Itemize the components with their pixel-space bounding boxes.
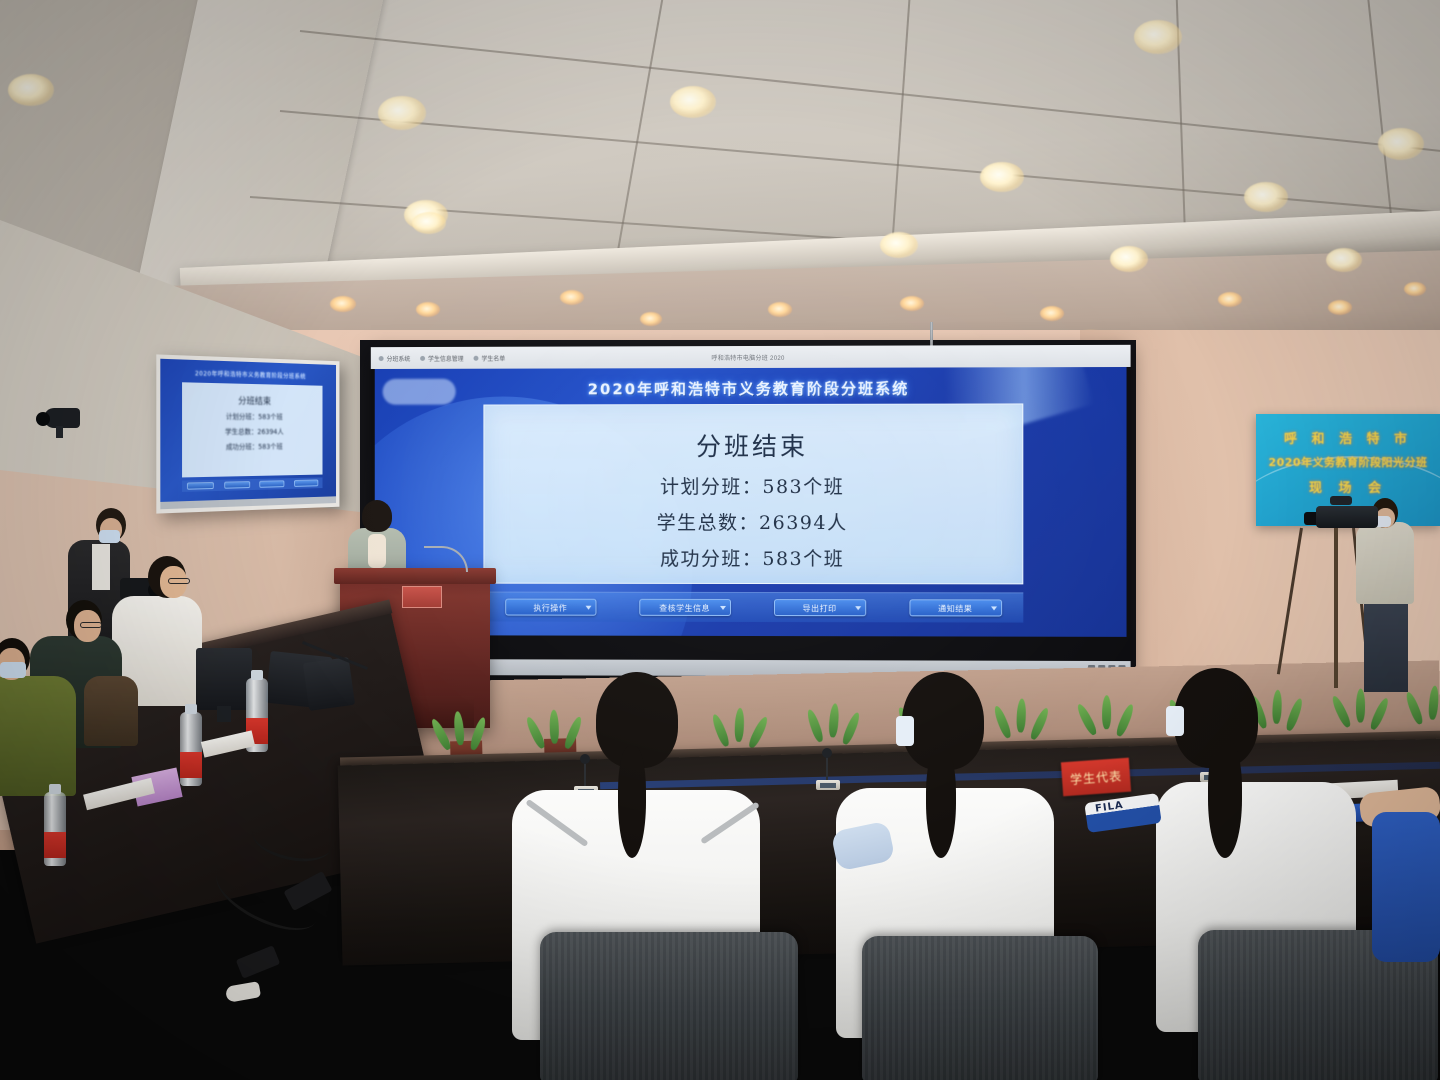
glasses-icon	[168, 578, 190, 584]
ceiling-grid-line	[616, 0, 667, 258]
speaker-blouse	[368, 534, 386, 568]
plant-leaf	[734, 708, 744, 742]
left-monitor-button-bar	[182, 477, 322, 492]
plant-leaf	[1272, 690, 1282, 724]
student-ponytail	[618, 746, 646, 858]
student-ponytail	[926, 748, 956, 858]
shoe	[225, 981, 261, 1003]
stat-label: 成功分班：	[660, 548, 762, 570]
power-strip	[236, 945, 281, 979]
ceiling-downlight	[1134, 20, 1182, 54]
result-heading: 分班结束	[484, 427, 1022, 464]
plant-leaf	[1029, 706, 1051, 741]
ceiling-cove-light	[1328, 300, 1352, 315]
left-monitor-button[interactable]	[294, 479, 318, 486]
left-monitor-button[interactable]	[187, 482, 214, 490]
stat-value: 26394人	[759, 512, 848, 534]
left-wall-monitor: 2020年呼和浩特市义务教育阶段分班系统 分班结束 计划分班：583个班 学生总…	[156, 354, 339, 513]
plant-leaf	[1404, 691, 1425, 726]
speaker-hair	[362, 500, 392, 532]
ceiling-downlight	[412, 212, 446, 234]
computer-monitor	[196, 648, 252, 710]
led-banner-line-2: 2020年义务教育阶段阳光分班	[1256, 454, 1440, 470]
bottle-label	[180, 752, 202, 778]
plant-leaf	[1330, 694, 1353, 729]
ceiling-cove-light	[900, 296, 924, 311]
ceiling-cove-light	[1040, 306, 1064, 321]
left-monitor-panel: 分班结束 计划分班：583个班 学生总数：26394人 成功分班：583个班	[182, 382, 322, 477]
glasses-icon	[80, 622, 102, 628]
student-ponytail	[1208, 740, 1242, 858]
execute-operation-button[interactable]: 执行操作	[505, 599, 596, 616]
browser-tab[interactable]: 学生信息管理	[420, 353, 463, 362]
water-bottle	[44, 792, 66, 866]
plant-leaf	[1368, 696, 1390, 731]
left-monitor-heading: 分班结束	[182, 393, 322, 408]
ceiling-downlight	[880, 232, 918, 258]
stat-row: 计划分班：583个班	[484, 472, 1022, 499]
desk-microphone	[812, 766, 842, 790]
stat-row: 成功分班：583个班	[484, 544, 1022, 571]
ceiling-cove-light	[768, 302, 792, 317]
ceiling-cove-light	[330, 296, 356, 312]
ceiling-downlight	[670, 86, 716, 118]
bottle-label	[44, 832, 66, 858]
browser-tab[interactable]: 分班系统	[379, 354, 411, 363]
podium-sign	[402, 586, 442, 608]
cameraman-body	[1356, 522, 1414, 604]
result-panel: 分班结束 计划分班：583个班 学生总数：26394人 成功分班：583个班	[483, 403, 1023, 584]
ceiling-downlight	[378, 96, 426, 130]
plant-leaf	[992, 704, 1013, 739]
staff-member-shoulder	[84, 676, 138, 746]
check-student-info-button[interactable]: 查核学生信息	[639, 599, 731, 616]
plant-leaf	[549, 710, 559, 744]
ceiling-downlight	[1244, 182, 1288, 212]
left-monitor-stat: 成功分班：583个班	[182, 442, 322, 453]
ceiling-downlight	[8, 74, 54, 106]
student-representative-placard: 学生代表	[1061, 758, 1131, 797]
photographer-shirt	[92, 544, 110, 590]
camera-handle	[1330, 496, 1352, 505]
system-title: 2020年呼和浩特市义务教育阶段分班系统	[375, 377, 1127, 400]
left-monitor-stat: 计划分班：583个班	[182, 411, 322, 422]
ceiling-cove-light	[416, 302, 440, 317]
notify-result-button[interactable]: 通知结果	[909, 599, 1002, 616]
ceiling-cove-light	[1218, 292, 1242, 307]
left-monitor-system-title: 2020年呼和浩特市义务教育阶段分班系统	[160, 367, 336, 381]
ceiling-cove-light	[560, 290, 584, 305]
plant-leaf	[710, 713, 731, 748]
ceiling-grid-line	[300, 30, 1440, 157]
plant-leaf	[524, 715, 547, 750]
face-mask-icon	[896, 716, 914, 746]
ceiling-downlight	[980, 162, 1024, 192]
face-mask-icon	[99, 530, 120, 543]
plant-leaf	[841, 711, 862, 746]
plant-leaf	[1114, 703, 1135, 738]
stat-row: 学生总数：26394人	[484, 508, 1022, 535]
left-monitor-taskbar	[160, 496, 336, 509]
plant-leaf	[1428, 685, 1440, 720]
fila-logo: FILA	[1094, 800, 1124, 815]
student-chair	[862, 936, 1098, 1080]
browser-tab[interactable]: 学生名单	[474, 353, 506, 362]
plant-leaf	[1356, 689, 1365, 723]
face-mask-icon	[1166, 706, 1184, 736]
water-bottle	[180, 712, 202, 786]
student-body	[1372, 812, 1440, 962]
plant-leaf	[828, 703, 840, 738]
computer-monitor	[303, 657, 355, 711]
ceiling-downlight	[1378, 128, 1424, 160]
plant-leaf	[1075, 702, 1099, 736]
ceiling-cove-light	[640, 312, 662, 326]
monitor-stand	[217, 706, 231, 722]
ceiling-downlight	[1110, 246, 1148, 272]
tripod-center-column	[1334, 528, 1338, 688]
led-banner-line-1: 呼 和 浩 特 市	[1256, 428, 1440, 447]
cameraman-legs	[1364, 600, 1408, 692]
ceiling-cove-light	[1404, 282, 1426, 296]
plant-leaf	[747, 715, 770, 749]
stat-label: 计划分班：	[660, 476, 762, 498]
plant-leaf	[1016, 698, 1026, 732]
wall-camera-icon	[36, 404, 88, 438]
slide-button-bar: 执行操作 查核学生信息 导出打印 通知结果	[483, 592, 1023, 623]
browser-toolbar: 分班系统 学生信息管理 学生名单 呼和浩特市电脑分班 2020	[371, 345, 1131, 369]
ceiling-downlight	[1326, 248, 1362, 272]
plant-leaf	[805, 708, 825, 743]
left-monitor-button[interactable]	[260, 480, 285, 488]
student-chair	[540, 932, 798, 1080]
left-monitor-button[interactable]	[224, 481, 250, 489]
stat-label: 学生总数：	[657, 512, 759, 534]
ceiling-grid-line	[890, 0, 913, 270]
export-print-button[interactable]: 导出打印	[774, 599, 866, 616]
staff-member-body	[0, 676, 76, 796]
led-banner-line-3: 现 场 会	[1256, 477, 1440, 496]
left-monitor-screen: 2020年呼和浩特市义务教育阶段分班系统 分班结束 计划分班：583个班 学生总…	[160, 359, 336, 510]
podium-top	[334, 568, 496, 584]
conference-room-photo: 分班系统 学生信息管理 学生名单 呼和浩特市电脑分班 2020 2020年呼和浩…	[0, 0, 1440, 1080]
face-mask-icon	[0, 662, 26, 678]
stat-value: 583个班	[762, 548, 844, 570]
browser-window-title: 呼和浩特市电脑分班 2020	[711, 352, 784, 361]
video-camera-icon	[1316, 506, 1378, 528]
left-monitor-stat: 学生总数：26394人	[182, 427, 322, 437]
plant-leaf	[1102, 695, 1111, 729]
plant-leaf	[1284, 697, 1304, 732]
stat-value: 583个班	[762, 476, 844, 498]
plant-leaf	[429, 717, 453, 751]
